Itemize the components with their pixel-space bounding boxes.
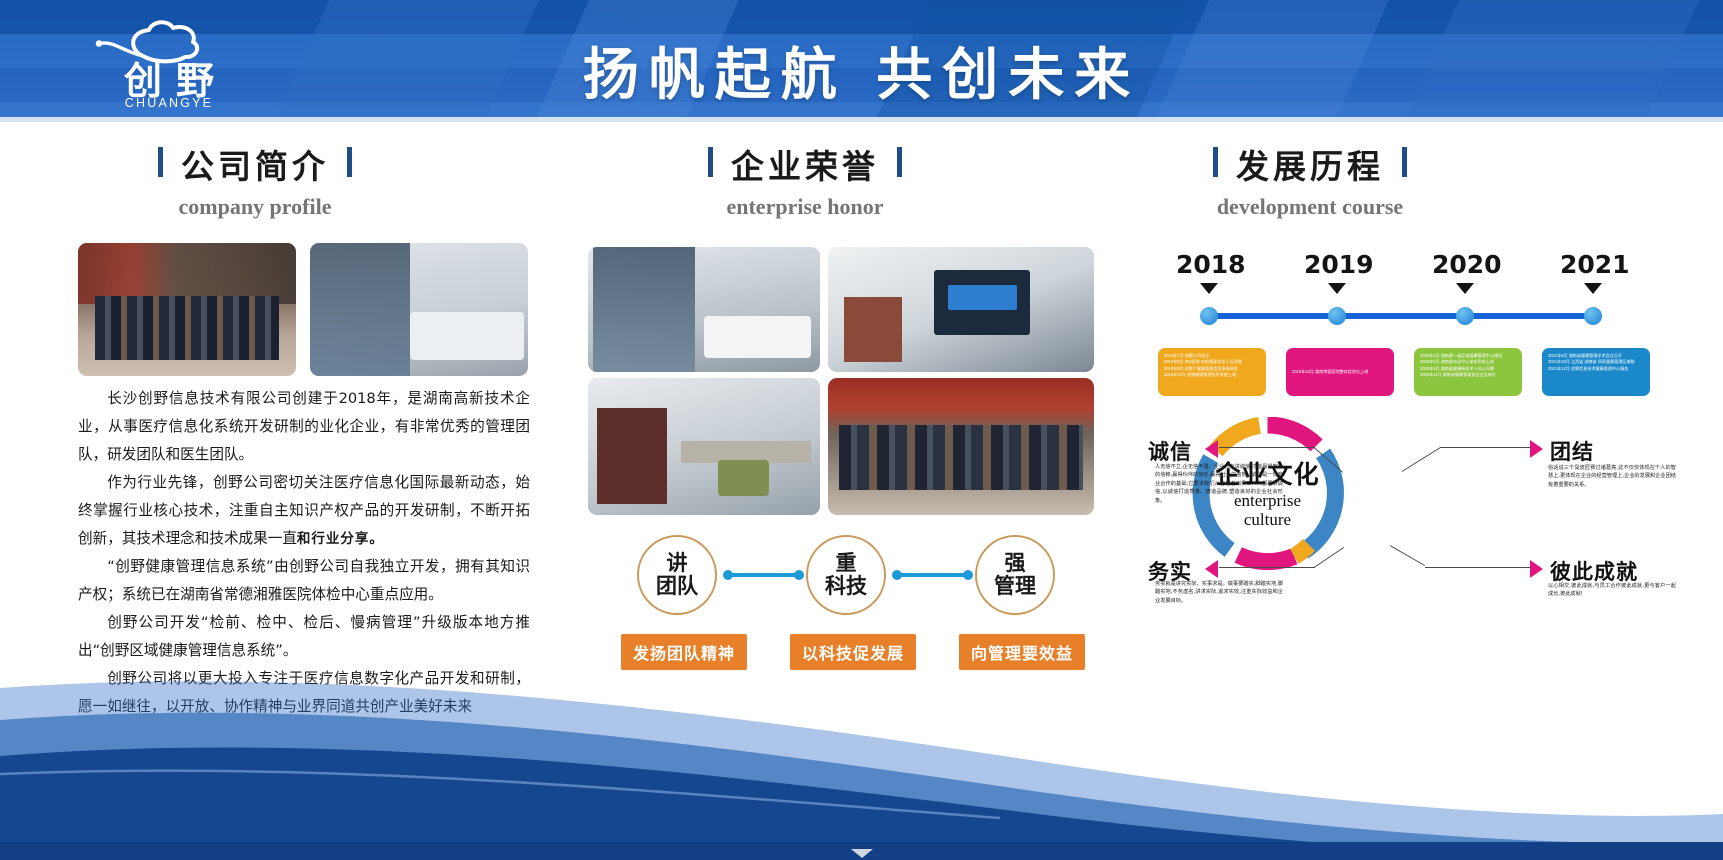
timeline-dot-2020 (1456, 307, 1474, 325)
profile-paragraph: 长沙创野信息技术有限公司创建于2018年，是湖南高新技术企业，从事医疗信息化系统… (78, 385, 530, 469)
heading-bar-right (347, 147, 352, 177)
section-heading-company-profile: 公司简介 company profile (55, 140, 455, 220)
ring-segment-accent (1294, 545, 1309, 556)
timeline-year-2019: 2019 (1304, 250, 1374, 279)
culture-arrow-tuanjie (1530, 440, 1543, 458)
scroll-down-indicator[interactable] (851, 849, 873, 858)
timeline-marker-2018 (1200, 283, 1218, 294)
profile-photo-office (310, 243, 528, 376)
culture-title-tuanjie: 团结 (1550, 436, 1594, 466)
culture-center-en2: culture (1190, 510, 1345, 529)
heading-bar-left (708, 147, 713, 177)
timeline-card-2021: 2021年8月 湖南省健康管理学术会议召开 2021年10月 江西省 湖南省 四… (1542, 348, 1650, 396)
timeline-dot-2019 (1328, 307, 1346, 325)
culture-leader-chengxin (1219, 447, 1315, 448)
culture-leader-tuanjie (1440, 447, 1530, 448)
timeline-marker-2019 (1328, 283, 1346, 294)
timeline-year-2018: 2018 (1176, 250, 1246, 279)
honor-photo-1 (588, 247, 820, 372)
timeline-card-2019: 2019年10月 湖南常德医院整体信息化上线 (1286, 348, 1394, 396)
handwritten-tail: 和行业分享。 (297, 531, 384, 547)
culture-title-chengxin: 诚信 (1148, 436, 1192, 466)
section-heading-development-course: 发展历程 development course (1110, 140, 1510, 220)
section-title-zh: 企业荣誉 (731, 140, 879, 188)
section-title-en: company profile (55, 194, 455, 220)
timeline-marker-2020 (1456, 283, 1474, 294)
heading-bar-right (897, 147, 902, 177)
culture-body-tuanjie: 俗话说三个臭皮匠赛过诸葛亮,这不仅仅体现在个人的智慧上,更体现在企业的经营管理上… (1548, 464, 1676, 489)
heading-bar-left (158, 147, 163, 177)
profile-paragraph: 作为行业先锋，创野公司密切关注医疗信息化国际最新动态，始终掌握行业核心技术，注重… (78, 469, 530, 553)
timeline-card-2020: 2020年4月 湖南第一届区域健康管理中心建设 2020年5月 湖南省市县中心体… (1414, 348, 1522, 396)
card-pointer (1332, 348, 1348, 349)
page-title: 扬帆起航 共创未来 (0, 30, 1723, 111)
timeline-year-2020: 2020 (1432, 250, 1502, 279)
section-heading-enterprise-honor: 企业荣誉 enterprise honor (605, 140, 1005, 220)
timeline-marker-2021 (1584, 283, 1602, 294)
ring-segment-tuanjie (1268, 425, 1317, 445)
culture-body-chengxin: 人无信不立,企无信不强。企业只有讲诚信,才能赢得客户的信赖,赢得伙伴的信任,赢得… (1155, 463, 1283, 505)
timeline-year-2021: 2021 (1560, 250, 1630, 279)
heading-bar-left (1213, 147, 1218, 177)
poster-board: 创野 CHUANGYE 扬帆起航 共创未来 公司简介 company profi… (0, 0, 1723, 860)
timeline-card-2018: 2018年7月 创野公司创立 2018年8月 991医院 体检管理技术人员到湖 … (1158, 348, 1266, 396)
honor-photo-4 (828, 378, 1094, 515)
heading-bar-right (1402, 147, 1407, 177)
section-title-en: development course (1110, 194, 1510, 220)
footer-wave (0, 560, 1723, 860)
timeline-dot-2018 (1200, 307, 1218, 325)
card-pointer (1460, 348, 1476, 349)
card-pointer (1588, 348, 1604, 349)
header-underline (0, 117, 1723, 122)
timeline-axis (1208, 313, 1593, 319)
section-title-en: enterprise honor (605, 194, 1005, 220)
card-pointer (1204, 348, 1220, 349)
poster-header: 创野 CHUANGYE 扬帆起航 共创未来 (0, 0, 1723, 122)
culture-leader-tuanjie-2 (1402, 447, 1442, 472)
honor-photo-2 (828, 247, 1094, 372)
honor-photo-3 (588, 378, 820, 515)
profile-photo-group (78, 243, 296, 376)
timeline-dot-2021 (1584, 307, 1602, 325)
section-title-zh: 发展历程 (1236, 140, 1384, 188)
culture-arrow-chengxin (1205, 440, 1218, 458)
section-title-zh: 公司简介 (181, 140, 329, 188)
